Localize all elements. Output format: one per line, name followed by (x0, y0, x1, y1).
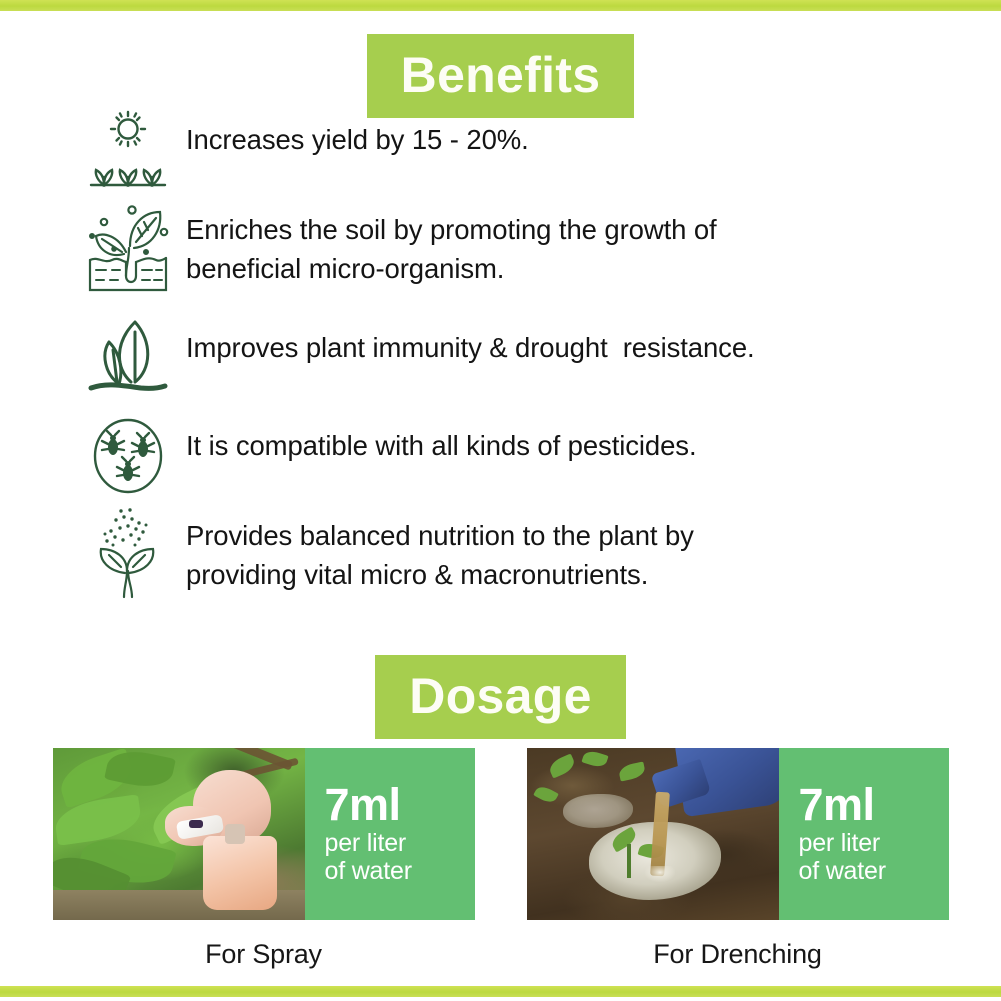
dosage-cards-area: 7ml per liter of water For Spray (0, 748, 1001, 970)
plant-in-soil-microbes-icon (78, 202, 178, 294)
benefit-item-text: Increases yield by 15 - 20%. (178, 104, 938, 159)
dosage-panel: 7ml per liter of water (305, 748, 475, 920)
benefit-item: Improves plant immunity & drought resist… (78, 312, 938, 404)
benefit-item: Provides balanced nutrition to the plant… (78, 508, 938, 612)
dosage-line-1: per liter (799, 829, 949, 857)
benefit-item-text: Enriches the soil by promoting the growt… (178, 202, 938, 289)
benefit-item: Enriches the soil by promoting the growt… (78, 202, 938, 306)
dosage-card-drenching: 7ml per liter of water For Drenching (527, 748, 949, 970)
two-leaves-on-ground-icon (78, 312, 178, 404)
dosage-panel: 7ml per liter of water (779, 748, 949, 920)
bottom-accent-bar (0, 986, 1001, 997)
dosage-heading-wrap: Dosage (0, 655, 1001, 739)
dosage-amount: 7ml (799, 783, 949, 827)
benefit-item-text: Provides balanced nutrition to the plant… (178, 508, 938, 595)
dosage-heading: Dosage (375, 655, 625, 739)
benefit-item: It is compatible with all kinds of pesti… (78, 410, 938, 502)
seedling-with-nutrient-dots-icon (78, 508, 178, 600)
watering-can-drenching-soil-photo (527, 748, 779, 920)
dosage-line-2: of water (799, 857, 949, 885)
benefit-item-text: It is compatible with all kinds of pesti… (178, 410, 938, 465)
sun-over-sprouts-icon (78, 104, 178, 196)
benefits-list: Increases yield by 15 - 20%. (78, 104, 938, 618)
dosage-line-1: per liter (325, 829, 475, 857)
dosage-card-spray: 7ml per liter of water For Spray (53, 748, 475, 970)
hand-spraying-plants-photo (53, 748, 305, 920)
dosage-caption: For Drenching (527, 939, 949, 970)
infographic-page: Benefits (0, 0, 1001, 1001)
insects-in-circle-icon (78, 410, 178, 502)
benefit-item: Increases yield by 15 - 20%. (78, 104, 938, 196)
benefit-item-text: Improves plant immunity & drought resist… (178, 312, 938, 367)
dosage-line-2: of water (325, 857, 475, 885)
dosage-caption: For Spray (53, 939, 475, 970)
top-accent-bar (0, 0, 1001, 11)
dosage-amount: 7ml (325, 783, 475, 827)
